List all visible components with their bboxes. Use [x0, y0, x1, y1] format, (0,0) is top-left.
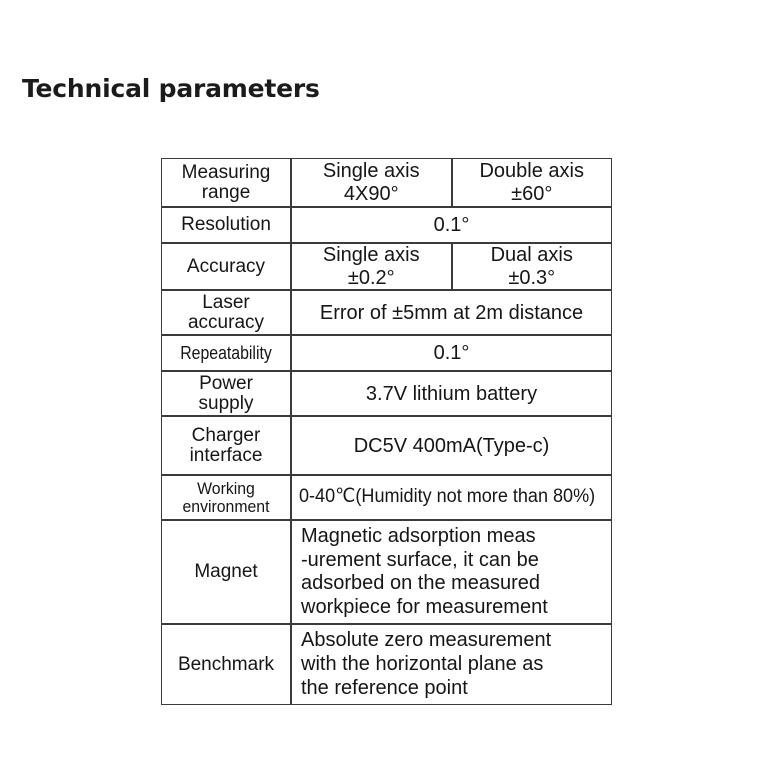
- row-value-accuracy-single: Single axis ±0.2°: [291, 243, 452, 290]
- row-value-magnet: Magnetic adsorption meas -urement surfac…: [291, 520, 612, 624]
- table-row: Working environment 0-40℃(Humidity not m…: [161, 475, 612, 520]
- row-label-benchmark: Benchmark: [161, 624, 291, 705]
- table-row: Charger interface DC5V 400mA(Type-c): [161, 416, 612, 475]
- row-value-measuring-range-double: Double axis ±60°: [452, 158, 613, 207]
- row-label-measuring-range: Measuring range: [161, 158, 291, 207]
- table-row: Benchmark Absolute zero measurement with…: [161, 624, 612, 705]
- table-row: Power supply 3.7V lithium battery: [161, 371, 612, 416]
- row-value-accuracy-dual: Dual axis ±0.3°: [452, 243, 613, 290]
- row-label-resolution: Resolution: [161, 207, 291, 243]
- row-value-measuring-range-single: Single axis 4X90°: [291, 158, 452, 207]
- technical-parameters-table: Measuring range Single axis 4X90° Double…: [161, 158, 612, 705]
- row-value-working-environment: 0-40℃(Humidity not more than 80%): [291, 475, 612, 520]
- table-row: Laser accuracy Error of ±5mm at 2m dista…: [161, 290, 612, 335]
- row-label-working-environment: Working environment: [161, 475, 291, 520]
- row-label-magnet: Magnet: [161, 520, 291, 624]
- table-row: Resolution 0.1°: [161, 207, 612, 243]
- table-row: Repeatability 0.1°: [161, 335, 612, 371]
- spec-table: Measuring range Single axis 4X90° Double…: [161, 158, 612, 705]
- row-value-resolution: 0.1°: [291, 207, 612, 243]
- row-value-benchmark: Absolute zero measurement with the horiz…: [291, 624, 612, 705]
- table-row: Magnet Magnetic adsorption meas -urement…: [161, 520, 612, 624]
- table-row: Accuracy Single axis ±0.2° Dual axis ±0.…: [161, 243, 612, 290]
- table-row: Measuring range Single axis 4X90° Double…: [161, 158, 612, 207]
- row-label-power-supply: Power supply: [161, 371, 291, 416]
- row-label-charger-interface: Charger interface: [161, 416, 291, 475]
- row-label-repeatability: Repeatability: [161, 335, 291, 371]
- page-title: Technical parameters: [22, 74, 320, 103]
- row-value-repeatability: 0.1°: [291, 335, 612, 371]
- row-value-power-supply: 3.7V lithium battery: [291, 371, 612, 416]
- row-label-accuracy: Accuracy: [161, 243, 291, 290]
- row-label-laser-accuracy: Laser accuracy: [161, 290, 291, 335]
- row-value-charger-interface: DC5V 400mA(Type-c): [291, 416, 612, 475]
- spec-table-body: Measuring range Single axis 4X90° Double…: [161, 158, 612, 705]
- row-value-laser-accuracy: Error of ±5mm at 2m distance: [291, 290, 612, 335]
